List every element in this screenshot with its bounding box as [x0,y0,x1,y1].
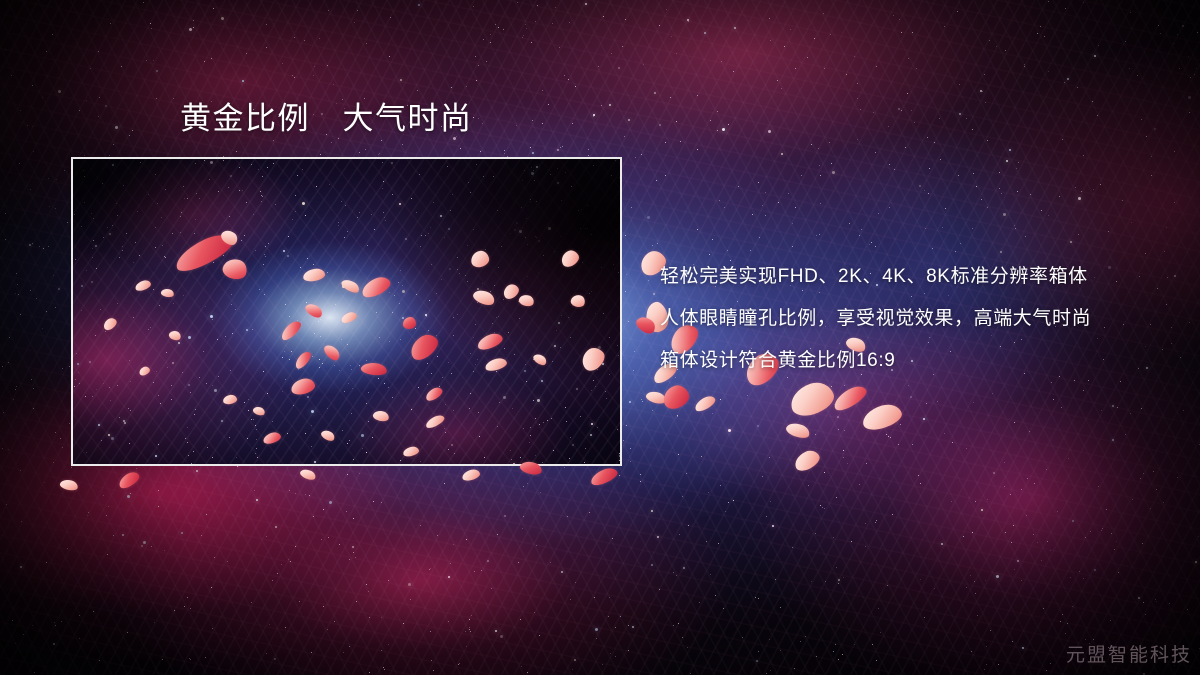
panel-shadow-layer [73,159,620,464]
petal [461,468,481,482]
panel-starfield [73,159,620,464]
petal [645,389,667,406]
petal [359,274,393,301]
petal [303,301,324,320]
petal [470,250,491,269]
petal [220,256,249,282]
petal [792,447,823,474]
petal [116,469,141,490]
petal [340,311,358,325]
petal [424,413,446,430]
petal [660,382,692,412]
panel-base-layer [73,159,620,464]
petal [559,248,582,270]
body-copy-line-1: 轻松完美实现FHD、2K、4K、8K标准分辨率箱体 [660,256,1180,298]
petal [302,268,325,283]
petal [320,428,337,443]
petal [693,393,718,413]
petal [476,331,505,352]
petal [471,287,496,308]
petal [262,431,282,446]
petal [340,277,361,295]
petal [570,293,587,308]
panel-red-nebula [73,159,620,464]
petal [160,288,174,299]
petal [278,318,303,342]
slide-canvas: 黄金比例 大气时尚 轻松完美实现FHD、2K、4K、8K标准分辨率箱体 人体眼睛… [0,0,1200,675]
petal [589,465,620,488]
page-title: 黄金比例 大气时尚 [180,102,473,137]
petal [406,330,442,364]
petal [219,227,240,248]
petal [360,361,387,377]
petal [101,316,118,332]
petal [138,365,151,377]
petal [484,357,508,373]
petal [59,478,79,492]
petal [786,378,837,420]
petal [299,467,317,482]
petal [222,394,237,405]
petal [252,405,266,417]
petal [860,401,905,433]
petal [168,329,182,342]
petal [402,445,420,457]
petal [785,420,812,440]
panel-petal-group [73,159,620,464]
petal [424,385,445,403]
petal [577,344,608,375]
body-copy-line-2: 人体眼睛瞳孔比例，享受视觉效果，高端大气时尚 [660,298,1180,340]
picture-frame[interactable] [71,157,622,466]
watermark: 元盟智能科技 [1066,640,1192,667]
petal [134,279,152,293]
petal [403,317,416,329]
petal [501,282,521,302]
petal [322,342,342,363]
body-copy-line-3: 箱体设计符合黄金比例16:9 [660,340,1180,382]
petal [830,382,869,414]
petal [532,352,549,368]
petal [290,377,317,397]
body-copy-block: 轻松完美实现FHD、2K、4K、8K标准分辨率箱体 人体眼睛瞳孔比例，享受视觉效… [660,256,1180,382]
petal [372,409,390,423]
petal [518,293,536,308]
panel-filaments [73,159,620,464]
petal [293,349,314,371]
petal [171,229,237,277]
petal [634,313,658,336]
